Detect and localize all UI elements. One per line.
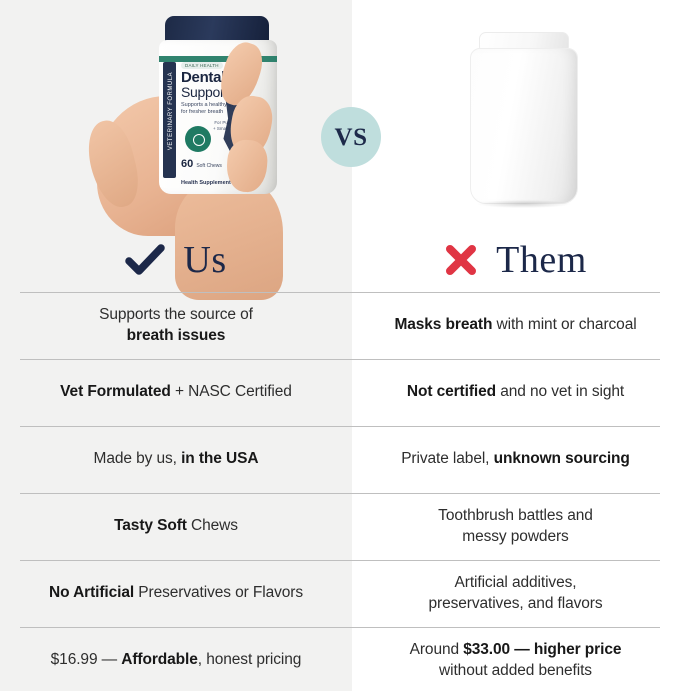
them-text-segment: Artificial additives,: [455, 574, 577, 591]
them-text-segment: Around: [410, 641, 464, 658]
vs-badge: VS: [321, 107, 381, 167]
label-badge: DAILY HEALTH: [181, 62, 223, 69]
them-text-segment: $33.00 — higher price: [463, 641, 621, 658]
us-heading: Us: [0, 228, 352, 292]
them-text-segment: Not certified: [407, 383, 496, 400]
jar-body: [470, 48, 578, 204]
them-cell: Private label, unknown sourcing: [352, 426, 679, 493]
them-text-segment: messy powders: [462, 528, 568, 545]
cross-icon: [444, 243, 478, 277]
them-text-segment: and no vet in sight: [496, 383, 624, 400]
them-text-segment: Masks breath: [394, 316, 492, 333]
product-count-unit: Soft Chews: [196, 163, 222, 169]
them-cell-text: Around $33.00 — higher pricewithout adde…: [410, 640, 622, 681]
them-heading-label: Them: [496, 241, 587, 279]
us-text-segment: Preservatives or Flavors: [134, 584, 303, 601]
vs-badge-label: VS: [335, 125, 368, 150]
spine-text: VETERINARY FORMULA: [168, 63, 174, 159]
us-cell-text: No Artificial Preservatives or Flavors: [49, 583, 303, 603]
them-cell-text: Artificial additives,preservatives, and …: [428, 573, 602, 614]
table-row: $16.99 — Affordable, honest pricingAroun…: [0, 627, 679, 694]
us-cell: Supports the source ofbreath issues: [0, 292, 352, 359]
us-text-segment: Tasty Soft: [114, 517, 187, 534]
us-text-segment: in the USA: [181, 450, 258, 467]
them-text-segment: preservatives, and flavors: [428, 595, 602, 612]
us-text-segment: Supports the source of: [99, 306, 253, 323]
hero-section: VETERINARY FORMULA DAILY HEALTH Dental S…: [0, 0, 679, 228]
us-text-segment: $16.99 —: [51, 651, 122, 668]
check-icon: [125, 243, 165, 277]
them-text-segment: Private label,: [401, 450, 493, 467]
us-cell-text: Vet Formulated + NASC Certified: [60, 382, 292, 402]
them-heading: Them: [352, 228, 679, 292]
them-product-jar: [470, 32, 578, 204]
us-cell-text: Tasty Soft Chews: [114, 516, 238, 536]
them-cell: Artificial additives,preservatives, and …: [352, 560, 679, 627]
us-text-segment: , honest pricing: [198, 651, 302, 668]
us-text-segment: + NASC Certified: [171, 383, 292, 400]
them-text-segment: with mint or charcoal: [492, 316, 636, 333]
quality-seal-icon: [185, 126, 211, 152]
table-row: Made by us, in the USAPrivate label, unk…: [0, 426, 679, 493]
us-cell: Vet Formulated + NASC Certified: [0, 359, 352, 426]
us-cell: Made by us, in the USA: [0, 426, 352, 493]
comparison-infographic: VETERINARY FORMULA DAILY HEALTH Dental S…: [0, 0, 679, 700]
hand-holding-product: VETERINARY FORMULA DAILY HEALTH Dental S…: [55, 0, 305, 228]
us-cell-text: $16.99 — Affordable, honest pricing: [51, 650, 302, 670]
us-cell-text: Supports the source ofbreath issues: [99, 305, 253, 346]
table-row: Vet Formulated + NASC CertifiedNot certi…: [0, 359, 679, 426]
them-text-segment: without added benefits: [439, 662, 592, 679]
product-count-number: 60: [181, 158, 193, 170]
us-text-segment: Vet Formulated: [60, 383, 171, 400]
table-row: Supports the source ofbreath issuesMasks…: [0, 292, 679, 359]
label-spine: VETERINARY FORMULA: [163, 62, 176, 178]
table-row: Tasty Soft ChewsToothbrush battles andme…: [0, 493, 679, 560]
us-cell: Tasty Soft Chews: [0, 493, 352, 560]
us-cell-text: Made by us, in the USA: [94, 449, 259, 469]
column-headings: Us Them: [0, 228, 679, 292]
comparison-table: Supports the source ofbreath issuesMasks…: [0, 292, 679, 694]
them-text-segment: unknown sourcing: [494, 450, 630, 467]
them-cell: Masks breath with mint or charcoal: [352, 292, 679, 359]
us-heading-label: Us: [183, 241, 226, 279]
us-text-segment: Chews: [187, 517, 238, 534]
us-cell: No Artificial Preservatives or Flavors: [0, 560, 352, 627]
us-text-segment: Made by us,: [94, 450, 182, 467]
them-cell: Around $33.00 — higher pricewithout adde…: [352, 627, 679, 694]
us-text-segment: breath issues: [127, 327, 226, 344]
them-cell-text: Masks breath with mint or charcoal: [394, 315, 636, 335]
table-row: No Artificial Preservatives or FlavorsAr…: [0, 560, 679, 627]
them-cell: Not certified and no vet in sight: [352, 359, 679, 426]
them-cell-text: Toothbrush battles andmessy powders: [438, 506, 593, 547]
us-cell: $16.99 — Affordable, honest pricing: [0, 627, 352, 694]
product-count: 60 Soft Chews: [181, 158, 222, 170]
them-cell-text: Not certified and no vet in sight: [407, 382, 624, 402]
jar-shadow: [478, 200, 570, 208]
them-cell-text: Private label, unknown sourcing: [401, 449, 630, 469]
them-text-segment: Toothbrush battles and: [438, 507, 593, 524]
us-text-segment: Affordable: [121, 651, 198, 668]
them-cell: Toothbrush battles andmessy powders: [352, 493, 679, 560]
us-text-segment: No Artificial: [49, 584, 134, 601]
